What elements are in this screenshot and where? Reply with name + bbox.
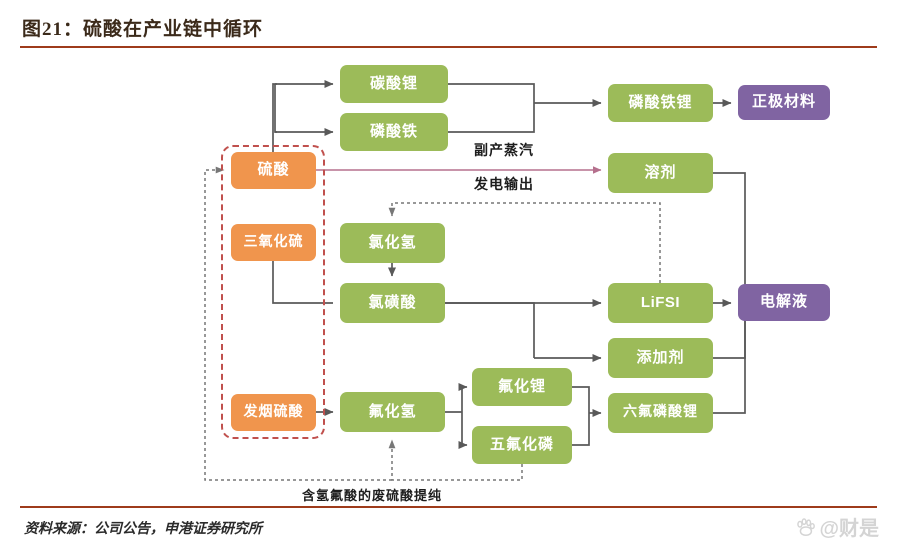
node-solvent[interactable]: 溶剂 bbox=[608, 153, 713, 193]
node-additive[interactable]: 添加剂 bbox=[608, 338, 713, 378]
footer-divider bbox=[20, 506, 877, 508]
node-sulfur-trioxide[interactable]: 三氧化硫 bbox=[231, 224, 316, 261]
figure-page: 图21：硫酸在产业链中循环 bbox=[0, 0, 897, 550]
node-iron-phosphate[interactable]: 磷酸铁 bbox=[340, 113, 448, 151]
node-lithium-carbonate[interactable]: 碳酸锂 bbox=[340, 65, 448, 103]
edge-label-power-output: 发电输出 bbox=[474, 174, 534, 194]
node-lifsi[interactable]: LiFSI bbox=[608, 283, 713, 323]
source-note: 资料来源：公司公告，申港证券研究所 bbox=[24, 518, 262, 538]
node-hydrogen-chloride[interactable]: 氯化氢 bbox=[340, 223, 445, 263]
paw-icon bbox=[794, 516, 816, 538]
watermark: @财是 bbox=[794, 512, 879, 541]
node-fuming-sulfuric-acid[interactable]: 发烟硫酸 bbox=[231, 394, 316, 431]
node-phosphorus-pentafluoride[interactable]: 五氟化磷 bbox=[472, 426, 572, 464]
node-lithium-iron-phosphate[interactable]: 磷酸铁锂 bbox=[608, 84, 713, 122]
edge-label-hf-waste-acid: 含氢氟酸的废硫酸提纯 bbox=[302, 485, 442, 504]
node-chlorosulfonic-acid[interactable]: 氯磺酸 bbox=[340, 283, 445, 323]
node-sulfuric-acid[interactable]: 硫酸 bbox=[231, 152, 316, 189]
page-title: 图21：硫酸在产业链中循环 bbox=[22, 14, 263, 41]
diagram-canvas: 碳酸锂 磷酸铁 磷酸铁锂 正极材料 硫酸 溶剂 三氧化硫 氯化氢 氯磺酸 LiF… bbox=[0, 48, 897, 504]
node-lithium-fluoride[interactable]: 氟化锂 bbox=[472, 368, 572, 406]
node-electrolyte[interactable]: 电解液 bbox=[738, 284, 830, 321]
node-hydrogen-fluoride[interactable]: 氟化氢 bbox=[340, 392, 445, 432]
node-lithium-hexafluorophosphate[interactable]: 六氟磷酸锂 bbox=[608, 393, 713, 433]
edge-label-byproduct-steam: 副产蒸汽 bbox=[474, 140, 534, 160]
watermark-text: @财是 bbox=[819, 512, 879, 541]
node-cathode-material[interactable]: 正极材料 bbox=[738, 85, 830, 120]
